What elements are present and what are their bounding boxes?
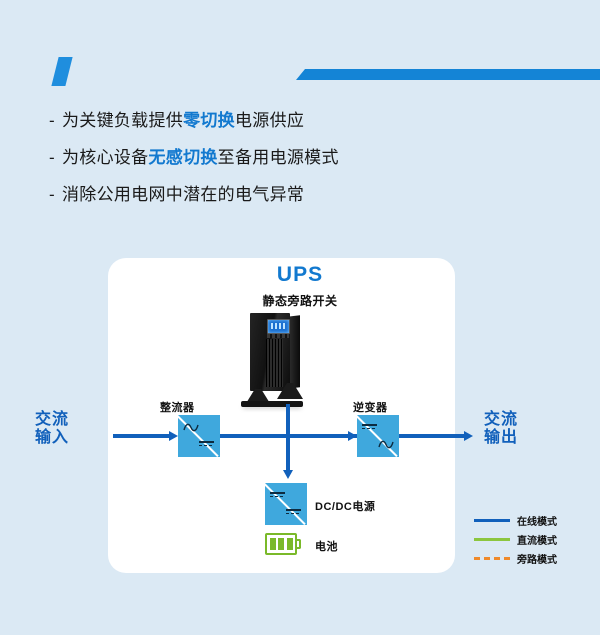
legend-item-bypass: 旁路模式 xyxy=(474,550,557,566)
wire-bypass-riser xyxy=(286,404,290,434)
battery-icon xyxy=(265,533,303,555)
ac-output-label: 交流 输出 xyxy=(484,411,518,448)
dc-bars-symbol xyxy=(362,424,377,431)
legend-label-bypass: 旁路模式 xyxy=(517,551,557,566)
arrow-input xyxy=(169,431,178,441)
bullet-dash: - xyxy=(49,149,55,166)
inverter-label: 逆变器 xyxy=(353,399,388,415)
legend-item-dc: 直流模式 xyxy=(474,531,557,547)
arrow-to-inverter xyxy=(348,431,357,441)
ac-input-label-line1: 交流 xyxy=(35,411,69,429)
bullet-dash: - xyxy=(49,186,55,203)
ups-title: UPS xyxy=(0,263,600,287)
legend-swatch-bypass xyxy=(474,557,510,560)
wire-dc-branch xyxy=(286,434,290,472)
dc-bars-symbol xyxy=(199,441,214,448)
list-item: - 为关键负载提供零切换电源供应 xyxy=(49,112,529,129)
legend-swatch-dc xyxy=(474,538,510,541)
legend-label-dc: 直流模式 xyxy=(517,532,557,547)
ups-base-stand xyxy=(241,401,303,407)
arrow-to-dcdc xyxy=(283,470,293,479)
slide-root: - 为关键负载提供零切换电源供应 - 为核心设备无感切换至备用电源模式 - 消除… xyxy=(0,0,600,635)
list-item: - 消除公用电网中潜在的电气异常 xyxy=(49,186,529,203)
battery-label: 电池 xyxy=(315,538,338,554)
rectifier-box xyxy=(178,415,220,457)
legend-item-online: 在线模式 xyxy=(474,512,557,528)
ups-device-image xyxy=(237,313,309,409)
bullet-text-highlight: 无感切换 xyxy=(148,148,217,167)
dcdc-label: DC/DC电源 xyxy=(315,498,375,514)
ac-output-label-line1: 交流 xyxy=(484,411,518,429)
bullet-dash: - xyxy=(49,112,55,129)
header-accent-bar xyxy=(296,69,600,80)
bullet-text-after: 至备用电源模式 xyxy=(218,148,339,167)
bullet-text: 为关键负载提供零切换电源供应 xyxy=(62,112,304,129)
bullet-text-after: 电源供应 xyxy=(235,111,304,130)
dcdc-box xyxy=(265,483,307,525)
dc-bars-symbol xyxy=(270,492,285,499)
inverter-diagonal xyxy=(357,415,398,457)
ac-input-label-line2: 输入 xyxy=(35,429,69,447)
ups-button-row xyxy=(267,334,289,338)
ups-lcd-screen xyxy=(267,319,290,334)
accent-slash-icon xyxy=(51,57,72,86)
legend-swatch-online xyxy=(474,519,510,522)
ac-wave-symbol xyxy=(183,423,199,432)
ups-subtitle: 静态旁路开关 xyxy=(0,292,600,309)
rectifier-diagonal xyxy=(178,415,219,457)
bullet-text: 为核心设备无感切换至备用电源模式 xyxy=(62,149,339,166)
arrow-output xyxy=(464,431,473,441)
ac-output-label-line2: 输出 xyxy=(484,429,518,447)
dcdc-diagonal xyxy=(265,483,306,525)
battery-terminal xyxy=(297,539,301,549)
rectifier-label: 整流器 xyxy=(160,399,195,415)
wire-output xyxy=(399,434,465,438)
bullet-text-before: 为核心设备 xyxy=(62,148,149,167)
bullet-text-highlight: 零切换 xyxy=(183,111,235,130)
battery-shell xyxy=(265,533,297,555)
ac-wave-symbol xyxy=(378,440,394,449)
bullet-text-before: 消除公用电网中潜在的电气异常 xyxy=(62,185,304,204)
ac-input-label: 交流 输入 xyxy=(35,411,69,448)
ups-vents xyxy=(266,339,283,387)
bullet-list: - 为关键负载提供零切换电源供应 - 为核心设备无感切换至备用电源模式 - 消除… xyxy=(49,112,529,223)
wire-input xyxy=(113,434,169,438)
bullet-text-before: 为关键负载提供 xyxy=(62,111,183,130)
dc-bars-symbol xyxy=(286,509,301,516)
legend: 在线模式 直流模式 旁路模式 xyxy=(474,512,557,569)
list-item: - 为核心设备无感切换至备用电源模式 xyxy=(49,149,529,166)
ups-chassis xyxy=(250,313,290,391)
legend-label-online: 在线模式 xyxy=(517,513,557,528)
bullet-text: 消除公用电网中潜在的电气异常 xyxy=(62,186,304,203)
inverter-box xyxy=(357,415,399,457)
